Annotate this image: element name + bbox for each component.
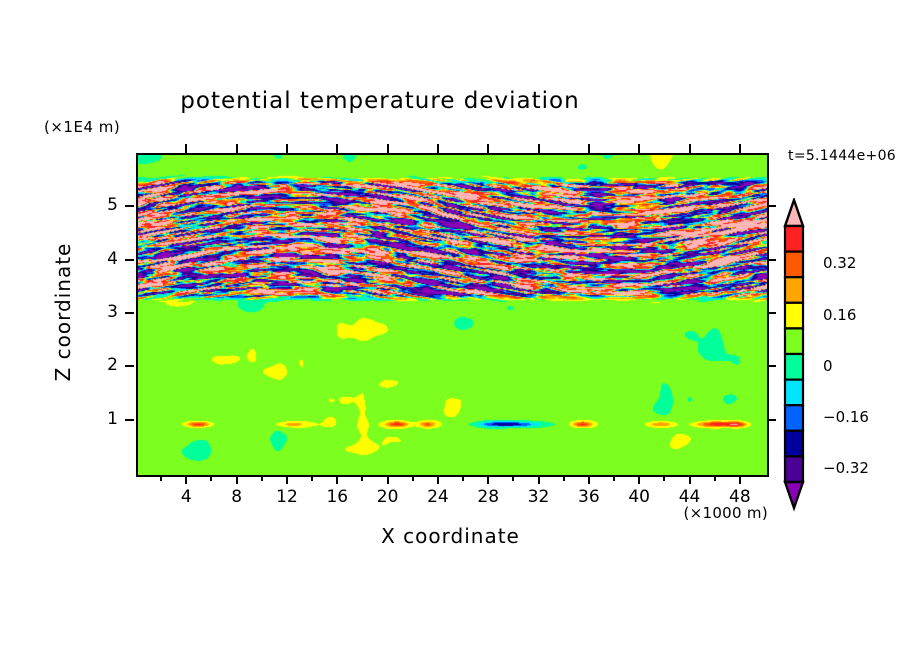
colorbar-band[interactable] xyxy=(785,431,803,457)
x-tick-4 xyxy=(185,475,187,484)
x-tick-label-28: 28 xyxy=(468,487,508,507)
colorbar-band[interactable] xyxy=(785,303,803,329)
x-axis-unit-label: (×1000 m) xyxy=(600,504,768,522)
x-minor-tick xyxy=(361,475,363,481)
x-minor-tick xyxy=(412,475,414,481)
x-tick-label-16: 16 xyxy=(317,487,357,507)
x-minor-tick xyxy=(512,475,514,481)
y-axis-title: Z coordinate xyxy=(51,217,75,407)
y-tick-label-4: 4 xyxy=(88,249,118,269)
x-tick-12 xyxy=(286,475,288,484)
colorbar-over-arrow xyxy=(785,200,803,226)
colorbar-band[interactable] xyxy=(785,328,803,354)
y-tick-label-1: 1 xyxy=(88,409,118,429)
y-tick-2 xyxy=(125,365,134,367)
y-tick-4 xyxy=(125,259,134,261)
colorbar-band[interactable] xyxy=(785,226,803,252)
colorbar-tick-label-2: 0 xyxy=(823,357,833,375)
x-tick-label-20: 20 xyxy=(368,487,408,507)
colorbar-tick-label-1: 0.16 xyxy=(823,306,856,324)
x-minor-tick xyxy=(311,475,313,481)
colorbar[interactable]: 0.320.160−0.16−0.32 xyxy=(775,198,825,518)
x-minor-tick xyxy=(714,475,716,481)
x-minor-tick xyxy=(261,475,263,481)
x-minor-tick xyxy=(613,475,615,481)
x-tick-16 xyxy=(336,475,338,484)
colorbar-band[interactable] xyxy=(785,354,803,380)
x-tick-48 xyxy=(739,475,741,484)
x-tick-40 xyxy=(638,475,640,484)
x-tick-8 xyxy=(236,475,238,484)
x-tick-top-36 xyxy=(588,144,590,153)
timestamp-annotation: t=5.1444e+06 xyxy=(788,148,896,164)
x-tick-36 xyxy=(588,475,590,484)
figure-canvas: potential temperature deviation (×1E4 m)… xyxy=(0,0,904,654)
x-minor-tick xyxy=(462,475,464,481)
x-tick-top-8 xyxy=(236,144,238,153)
x-tick-label-8: 8 xyxy=(217,487,257,507)
x-tick-28 xyxy=(487,475,489,484)
x-minor-tick xyxy=(563,475,565,481)
x-tick-top-40 xyxy=(638,144,640,153)
colorbar-band[interactable] xyxy=(785,380,803,406)
plot-area[interactable] xyxy=(136,153,769,477)
x-tick-20 xyxy=(387,475,389,484)
x-tick-24 xyxy=(437,475,439,484)
x-tick-top-16 xyxy=(336,144,338,153)
x-tick-top-24 xyxy=(437,144,439,153)
colorbar-tick-label-4: −0.32 xyxy=(823,459,869,477)
y-tick-label-3: 3 xyxy=(88,302,118,322)
colorbar-tick-label-0: 0.32 xyxy=(823,254,856,272)
y-tick-5 xyxy=(125,205,134,207)
x-tick-top-4 xyxy=(185,144,187,153)
x-tick-top-32 xyxy=(538,144,540,153)
contour-field xyxy=(138,155,767,475)
x-minor-tick xyxy=(160,475,162,481)
x-axis-title: X coordinate xyxy=(136,524,765,548)
x-tick-top-48 xyxy=(739,144,741,153)
x-tick-44 xyxy=(689,475,691,484)
colorbar-under-arrow xyxy=(785,482,803,508)
y-tick-label-2: 2 xyxy=(88,355,118,375)
x-minor-tick xyxy=(210,475,212,481)
page-title: potential temperature deviation xyxy=(0,88,760,114)
y-tick-label-5: 5 xyxy=(88,195,118,215)
colorbar-tick-label-3: −0.16 xyxy=(823,408,869,426)
x-tick-top-12 xyxy=(286,144,288,153)
x-tick-top-20 xyxy=(387,144,389,153)
colorbar-band[interactable] xyxy=(785,252,803,278)
x-tick-label-12: 12 xyxy=(267,487,307,507)
x-minor-tick xyxy=(663,475,665,481)
colorbar-band[interactable] xyxy=(785,456,803,482)
y-tick-1 xyxy=(125,419,134,421)
x-tick-label-24: 24 xyxy=(418,487,458,507)
colorbar-band[interactable] xyxy=(785,277,803,303)
y-axis-unit-label: (×1E4 m) xyxy=(44,118,120,136)
x-tick-top-44 xyxy=(689,144,691,153)
x-tick-label-4: 4 xyxy=(166,487,206,507)
y-tick-3 xyxy=(125,312,134,314)
x-tick-32 xyxy=(538,475,540,484)
x-tick-top-28 xyxy=(487,144,489,153)
x-tick-label-32: 32 xyxy=(519,487,559,507)
colorbar-band[interactable] xyxy=(785,405,803,431)
